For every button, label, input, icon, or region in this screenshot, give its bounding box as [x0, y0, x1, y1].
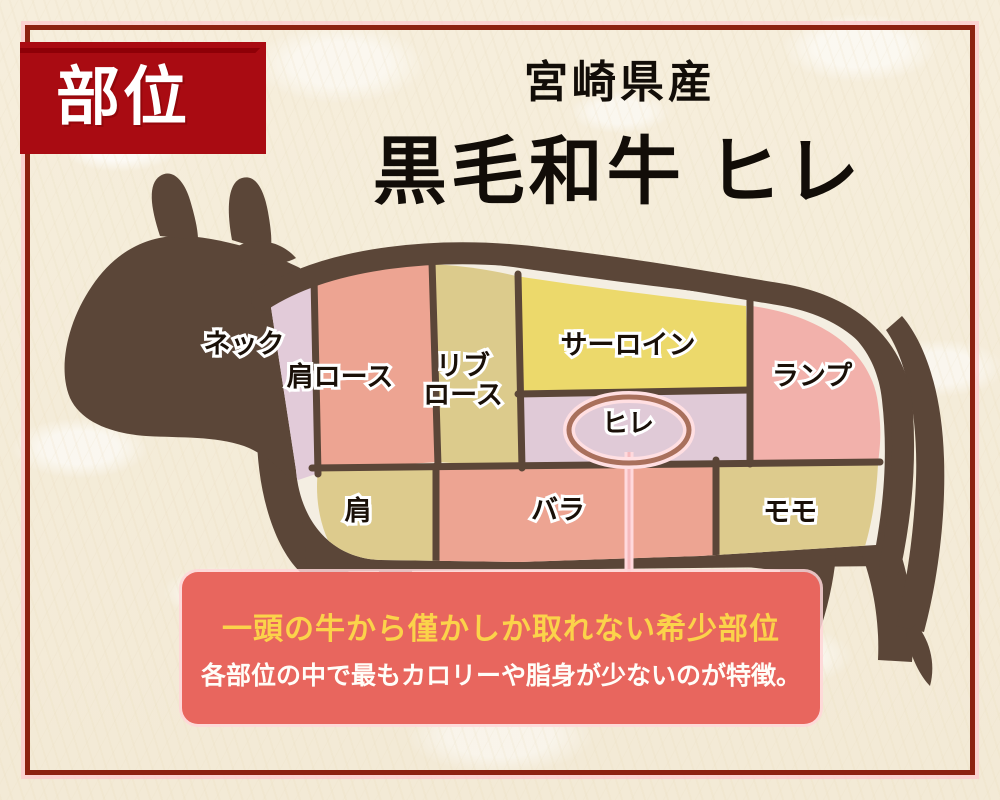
cut-label-rump: ランプ — [758, 362, 866, 391]
cut-label-bara: バラ — [512, 496, 604, 525]
cut-label-sirloin: サーロイン — [548, 331, 708, 360]
description-callout: 一頭の牛から僅かしか取れない希少部位 各部位の中で最もカロリーや脂身が少ないのが… — [182, 572, 820, 724]
callout-subtext: 各部位の中で最もカロリーや脂身が少ないのが特徴。 — [201, 656, 801, 692]
poster-canvas: 部位 宮崎県産 黒毛和牛 ヒレ ネック 肩ロース リブ ロース サーロイン ラン… — [0, 0, 1000, 800]
page-title: 黒毛和牛 ヒレ — [118, 112, 1000, 219]
cut-label-rib-rosu: リブ ロース — [420, 352, 506, 410]
cut-label-kata-rosu: 肩ロース — [275, 363, 405, 392]
cut-label-hire: ヒレ — [580, 410, 676, 438]
cut-label-momo: モモ — [748, 498, 832, 527]
subtitle-origin: 宮崎県産 — [120, 46, 1000, 110]
cut-label-neck: ネック — [196, 330, 292, 359]
cut-label-kata: 肩 — [330, 497, 386, 526]
callout-headline: 一頭の牛から僅かしか取れない希少部位 — [222, 604, 780, 648]
